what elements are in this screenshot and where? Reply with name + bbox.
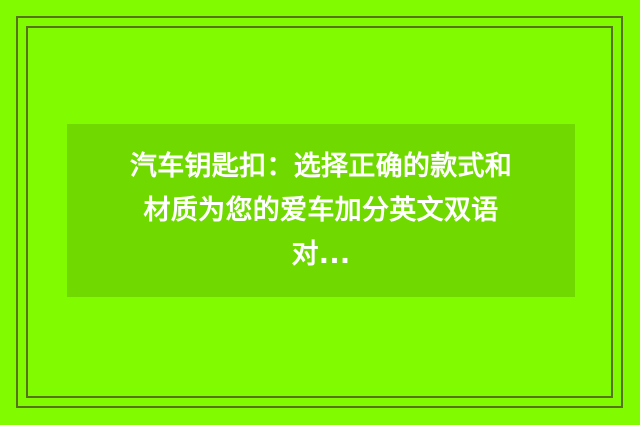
caption-overlay-band: 汽车钥匙扣：选择正确的款式和材质为您的爱车加分英文双语对... bbox=[67, 124, 575, 297]
thumbnail-card[interactable]: 汽车钥匙扣：选择正确的款式和材质为您的爱车加分英文双语对... bbox=[0, 0, 640, 425]
caption-title: 汽车钥匙扣：选择正确的款式和材质为您的爱车加分英文双语对... bbox=[125, 145, 517, 277]
